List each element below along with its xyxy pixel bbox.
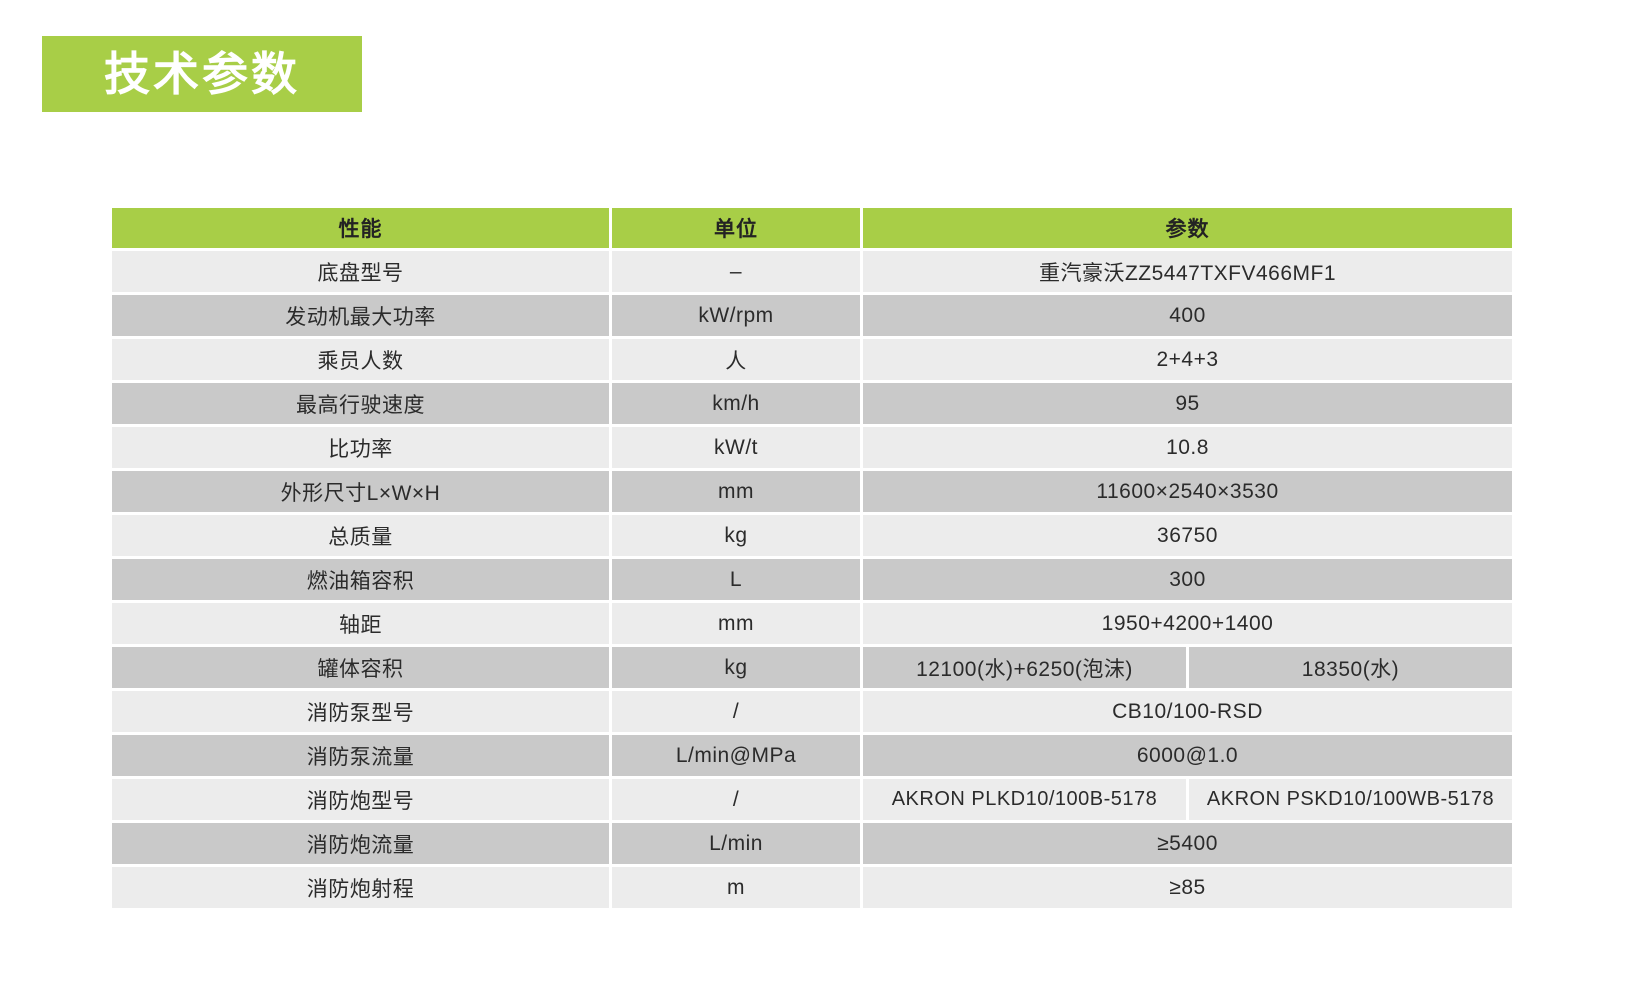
table-body: 底盘型号 – 重汽豪沃ZZ5447TXFV466MF1 发动机最大功率 kW/r…	[112, 251, 1512, 908]
table-row: 罐体容积 kg 12100(水)+6250(泡沫) 18350(水)	[112, 647, 1512, 691]
cell-performance: 罐体容积	[112, 647, 612, 691]
table-row: 消防炮流量 L/min ≥5400	[112, 823, 1512, 867]
cell-performance: 燃油箱容积	[112, 559, 612, 603]
specifications-table: 性能 单位 参数 底盘型号 – 重汽豪沃ZZ5447TXFV466MF1 发动机…	[112, 208, 1512, 908]
cell-parameter: CB10/100-RSD	[863, 691, 1512, 735]
cell-performance: 外形尺寸L×W×H	[112, 471, 612, 515]
cell-unit: km/h	[612, 383, 863, 427]
cell-parameter: ≥5400	[863, 823, 1512, 867]
table-row: 比功率 kW/t 10.8	[112, 427, 1512, 471]
cell-performance: 消防炮型号	[112, 779, 612, 823]
cell-parameter-left: 12100(水)+6250(泡沫)	[863, 647, 1189, 688]
table-row: 消防泵型号 / CB10/100-RSD	[112, 691, 1512, 735]
column-header-performance: 性能	[112, 208, 612, 251]
cell-unit: L/min@MPa	[612, 735, 863, 779]
cell-performance: 消防泵流量	[112, 735, 612, 779]
cell-parameter-split: 12100(水)+6250(泡沫) 18350(水)	[863, 647, 1512, 691]
table-row: 总质量 kg 36750	[112, 515, 1512, 559]
cell-parameter: 2+4+3	[863, 339, 1512, 383]
cell-unit: L	[612, 559, 863, 603]
technical-specifications-page: 技术参数 性能 单位 参数 底盘型号 – 重汽豪沃ZZ5447TXFV466	[0, 0, 1625, 1000]
cell-unit: kg	[612, 647, 863, 691]
cell-parameter: 95	[863, 383, 1512, 427]
cell-parameter-split: AKRON PLKD10/100B-5178 AKRON PSKD10/100W…	[863, 779, 1512, 823]
table-row: 燃油箱容积 L 300	[112, 559, 1512, 603]
specifications-table-container: 性能 单位 参数 底盘型号 – 重汽豪沃ZZ5447TXFV466MF1 发动机…	[112, 208, 1512, 908]
cell-parameter: 10.8	[863, 427, 1512, 471]
cell-performance: 乘员人数	[112, 339, 612, 383]
cell-parameter: 1950+4200+1400	[863, 603, 1512, 647]
cell-parameter: ≥85	[863, 867, 1512, 908]
cell-performance: 总质量	[112, 515, 612, 559]
cell-performance: 消防炮射程	[112, 867, 612, 908]
table-row: 消防炮型号 / AKRON PLKD10/100B-5178 AKRON PSK…	[112, 779, 1512, 823]
cell-parameter: 300	[863, 559, 1512, 603]
cell-parameter: 6000@1.0	[863, 735, 1512, 779]
table-row: 最高行驶速度 km/h 95	[112, 383, 1512, 427]
split-parameter-group: AKRON PLKD10/100B-5178 AKRON PSKD10/100W…	[863, 779, 1512, 820]
cell-performance: 最高行驶速度	[112, 383, 612, 427]
cell-parameter: 400	[863, 295, 1512, 339]
page-title: 技术参数	[104, 51, 300, 97]
cell-parameter-right: AKRON PSKD10/100WB-5178	[1189, 779, 1512, 820]
cell-unit: kg	[612, 515, 863, 559]
table-row: 消防泵流量 L/min@MPa 6000@1.0	[112, 735, 1512, 779]
cell-parameter: 重汽豪沃ZZ5447TXFV466MF1	[863, 251, 1512, 295]
section-title-banner: 技术参数	[42, 36, 362, 112]
table-row: 底盘型号 – 重汽豪沃ZZ5447TXFV466MF1	[112, 251, 1512, 295]
table-row: 乘员人数 人 2+4+3	[112, 339, 1512, 383]
cell-unit: mm	[612, 603, 863, 647]
cell-unit: kW/t	[612, 427, 863, 471]
table-row: 发动机最大功率 kW/rpm 400	[112, 295, 1512, 339]
cell-performance: 底盘型号	[112, 251, 612, 295]
cell-parameter-left: AKRON PLKD10/100B-5178	[863, 779, 1189, 820]
cell-unit: kW/rpm	[612, 295, 863, 339]
cell-performance: 发动机最大功率	[112, 295, 612, 339]
cell-unit: L/min	[612, 823, 863, 867]
cell-parameter-right: 18350(水)	[1189, 647, 1512, 688]
table-row: 消防炮射程 m ≥85	[112, 867, 1512, 908]
cell-unit: m	[612, 867, 863, 908]
cell-unit: –	[612, 251, 863, 295]
cell-performance: 消防炮流量	[112, 823, 612, 867]
split-parameter-group: 12100(水)+6250(泡沫) 18350(水)	[863, 647, 1512, 688]
cell-unit: 人	[612, 339, 863, 383]
cell-performance: 轴距	[112, 603, 612, 647]
cell-unit: /	[612, 779, 863, 823]
table-header: 性能 单位 参数	[112, 208, 1512, 251]
table-row: 外形尺寸L×W×H mm 11600×2540×3530	[112, 471, 1512, 515]
cell-parameter: 11600×2540×3530	[863, 471, 1512, 515]
cell-performance: 消防泵型号	[112, 691, 612, 735]
column-header-parameter: 参数	[863, 208, 1512, 251]
cell-unit: mm	[612, 471, 863, 515]
column-header-unit: 单位	[612, 208, 863, 251]
table-header-row: 性能 单位 参数	[112, 208, 1512, 251]
table-row: 轴距 mm 1950+4200+1400	[112, 603, 1512, 647]
cell-unit: /	[612, 691, 863, 735]
cell-performance: 比功率	[112, 427, 612, 471]
cell-parameter: 36750	[863, 515, 1512, 559]
